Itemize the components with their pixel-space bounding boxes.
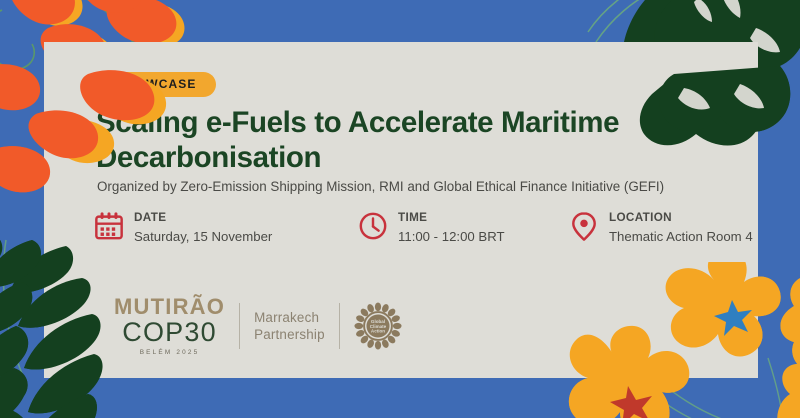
calendar-icon — [94, 210, 124, 242]
marrakech-line-2: Partnership — [254, 326, 325, 343]
flower-center-red — [610, 386, 652, 418]
global-climate-action-emblem: Global Climate Action — [354, 302, 402, 350]
clock-icon — [358, 210, 388, 242]
logo-divider-2 — [339, 303, 340, 349]
belem-2025-text: BELÉM 2025 — [140, 350, 200, 356]
marrakech-line-1: Marrakech — [254, 309, 325, 326]
event-meta: DATE Saturday, 15 November TIME 11:00 - … — [94, 210, 754, 260]
cop30-wordmark: COP30 — [122, 319, 217, 346]
gca-line-1: Global — [371, 319, 385, 324]
title-line-1: Scaling e-Fuels to Accelerate Maritime — [96, 106, 736, 141]
meta-item-date: DATE Saturday, 15 November — [94, 210, 272, 245]
meta-value-time: 11:00 - 12:00 BRT — [398, 228, 505, 245]
meta-label-date: DATE — [134, 211, 272, 226]
meta-label-location: LOCATION — [609, 211, 753, 226]
event-poster: SHOWCASE Scaling e-Fuels to Accelerate M… — [0, 0, 800, 418]
logo-row: MUTIRÃO COP30 BELÉM 2025 Marrakech Partn… — [114, 296, 402, 356]
location-pin-icon — [569, 210, 599, 242]
gca-line-3: Action — [371, 329, 385, 334]
meta-value-location: Thematic Action Room 4 — [609, 228, 753, 245]
organizer-text: Organized by Zero-Emission Shipping Miss… — [97, 178, 757, 195]
meta-item-time: TIME 11:00 - 12:00 BRT — [358, 210, 505, 245]
flower-center-red-overlap — [610, 386, 652, 418]
marrakech-partnership-logo: Marrakech Partnership — [254, 309, 325, 343]
page-title: Scaling e-Fuels to Accelerate Maritime D… — [96, 106, 736, 175]
meta-label-time: TIME — [398, 211, 505, 226]
logo-divider — [239, 303, 240, 349]
gca-line-2: Climate — [370, 324, 387, 329]
event-card: SHOWCASE Scaling e-Fuels to Accelerate M… — [44, 42, 758, 378]
meta-value-date: Saturday, 15 November — [134, 228, 272, 245]
mutirao-wordmark: MUTIRÃO — [114, 296, 225, 318]
showcase-badge: SHOWCASE — [97, 72, 216, 97]
mutirao-cop30-logo: MUTIRÃO COP30 BELÉM 2025 — [114, 296, 225, 356]
title-line-2: Decarbonisation — [96, 141, 736, 176]
meta-item-location: LOCATION Thematic Action Room 4 — [569, 210, 753, 245]
